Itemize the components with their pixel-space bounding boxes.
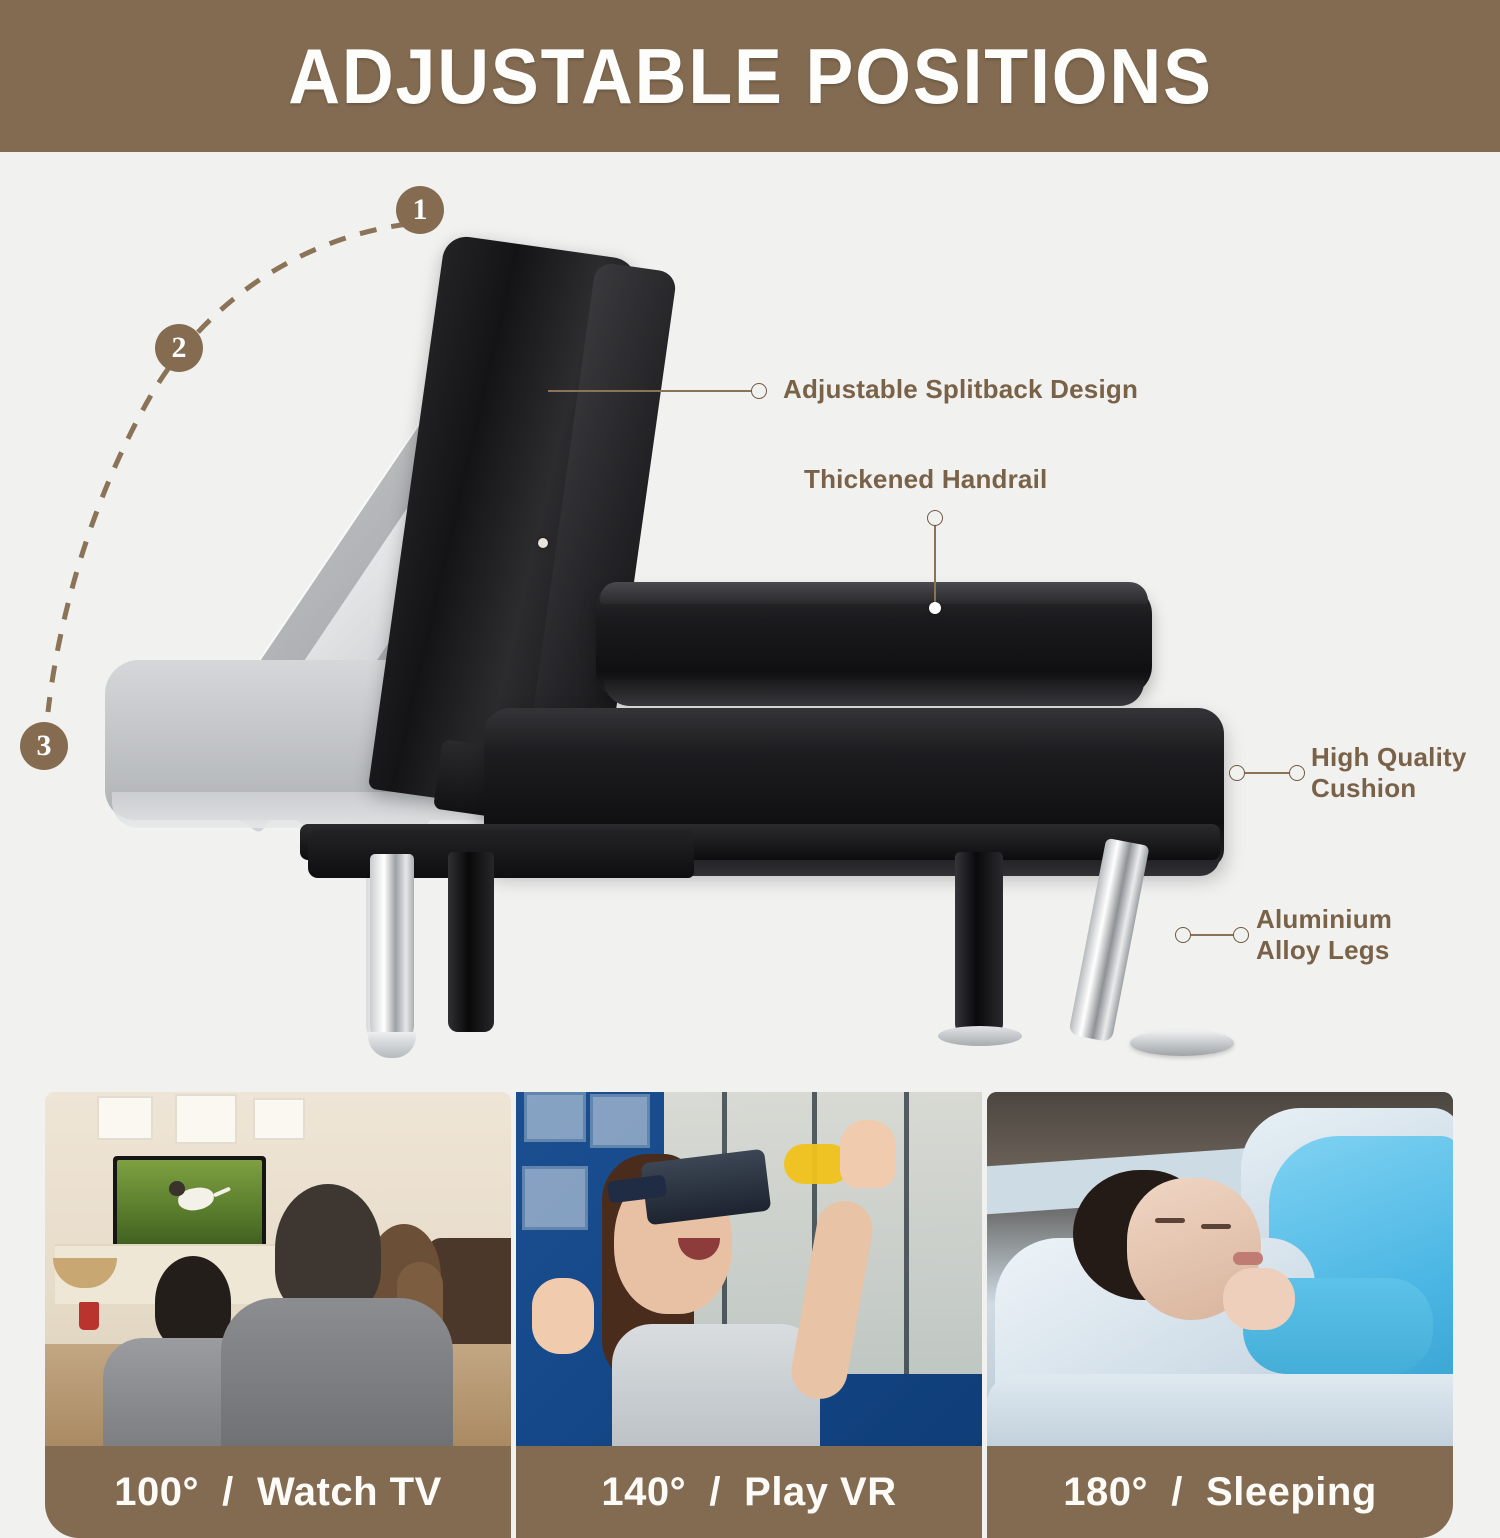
legs-leader-endpoint-icon [1233, 927, 1249, 943]
callout-legs-label: Aluminium Alloy Legs [1256, 904, 1392, 965]
panel-watch-tv-caption-text: 100° / Watch TV [114, 1470, 442, 1515]
handrail-leader-endpoint-icon [927, 510, 943, 526]
header-banner: ADJUSTABLE POSITIONS [0, 0, 1500, 152]
panel-watch-tv-photo [45, 1092, 511, 1446]
handrail-leader-line [934, 517, 936, 607]
panel-sleeping-caption-text: 180° / Sleeping [1063, 1470, 1377, 1515]
sofa-base-front [308, 830, 694, 878]
callout-handrail-label: Thickened Handrail [804, 464, 1047, 495]
sofa-armrest-underside [604, 680, 1144, 706]
callout-cushion-label: High Quality Cushion [1311, 742, 1467, 803]
panel-play-vr-caption: 140° / Play VR [516, 1446, 982, 1538]
usage-scenario-panels: 100° / Watch TV [0, 1092, 1500, 1500]
product-infographic: ADJUSTABLE POSITIONS [0, 0, 1500, 1500]
panel-sleeping-caption: 180° / Sleeping [987, 1446, 1453, 1538]
sofa-armrest-top-surface [600, 582, 1148, 604]
cushion-anchor-icon [1229, 765, 1245, 781]
panel-sleeping-photo [987, 1092, 1453, 1446]
position-marker-3: 3 [20, 722, 68, 770]
black-leg-right-foot [938, 1026, 1022, 1046]
legs-anchor-icon [1175, 927, 1191, 943]
callout-splitback-label: Adjustable Splitback Design [783, 374, 1138, 405]
panel-play-vr-caption-text: 140° / Play VR [601, 1470, 896, 1515]
position-marker-1-number: 1 [413, 193, 428, 227]
chrome-leg-left [370, 854, 414, 1044]
black-leg-left [448, 852, 494, 1032]
position-marker-2: 2 [155, 324, 203, 372]
splitback-anchor-dot [538, 538, 548, 548]
tv-set [113, 1156, 266, 1252]
position-marker-1: 1 [396, 186, 444, 234]
panel-watch-tv-caption: 100° / Watch TV [45, 1446, 511, 1538]
handrail-anchor-dot [929, 602, 941, 614]
page-title: ADJUSTABLE POSITIONS [288, 31, 1213, 122]
splitback-leader-endpoint-icon [751, 383, 767, 399]
chrome-leg-left-foot [368, 1032, 416, 1058]
position-marker-2-number: 2 [172, 331, 187, 365]
splitback-leader-line [548, 390, 754, 392]
position-marker-3-number: 3 [37, 729, 52, 763]
hero-product-stage: 1 2 3 Adjustable Splitback Design Thicke… [0, 152, 1500, 1090]
panel-play-vr-photo [516, 1092, 982, 1446]
cushion-leader-line [1236, 772, 1296, 774]
cushion-leader-endpoint-icon [1289, 765, 1305, 781]
black-leg-right [955, 852, 1003, 1034]
chrome-leg-right-foot [1130, 1030, 1234, 1056]
